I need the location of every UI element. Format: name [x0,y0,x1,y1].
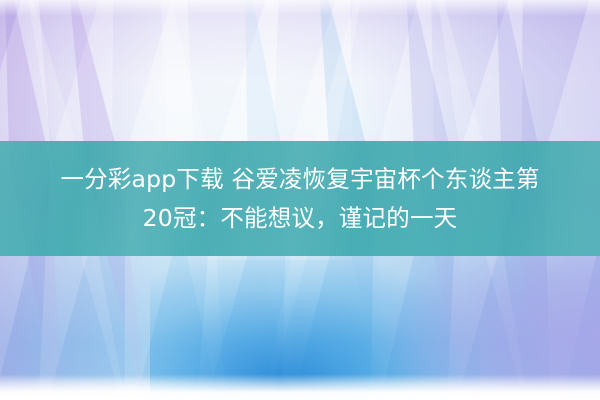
banner-image: 一分彩app下载 谷爱凌恢复宇宙杯个东谈主第 20冠：不能想议，谨记的一天 [0,0,600,400]
title-banner: 一分彩app下载 谷爱凌恢复宇宙杯个东谈主第 20冠：不能想议，谨记的一天 [0,141,600,256]
page-title-line-2: 20冠：不能想议，谨记的一天 [60,199,539,238]
background-bottom-fade [0,374,600,400]
page-title-line-1: 一分彩app下载 谷爱凌恢复宇宙杯个东谈主第 [60,160,539,199]
background-top-fade [0,0,600,16]
page-title: 一分彩app下载 谷爱凌恢复宇宙杯个东谈主第 20冠：不能想议，谨记的一天 [60,160,539,238]
